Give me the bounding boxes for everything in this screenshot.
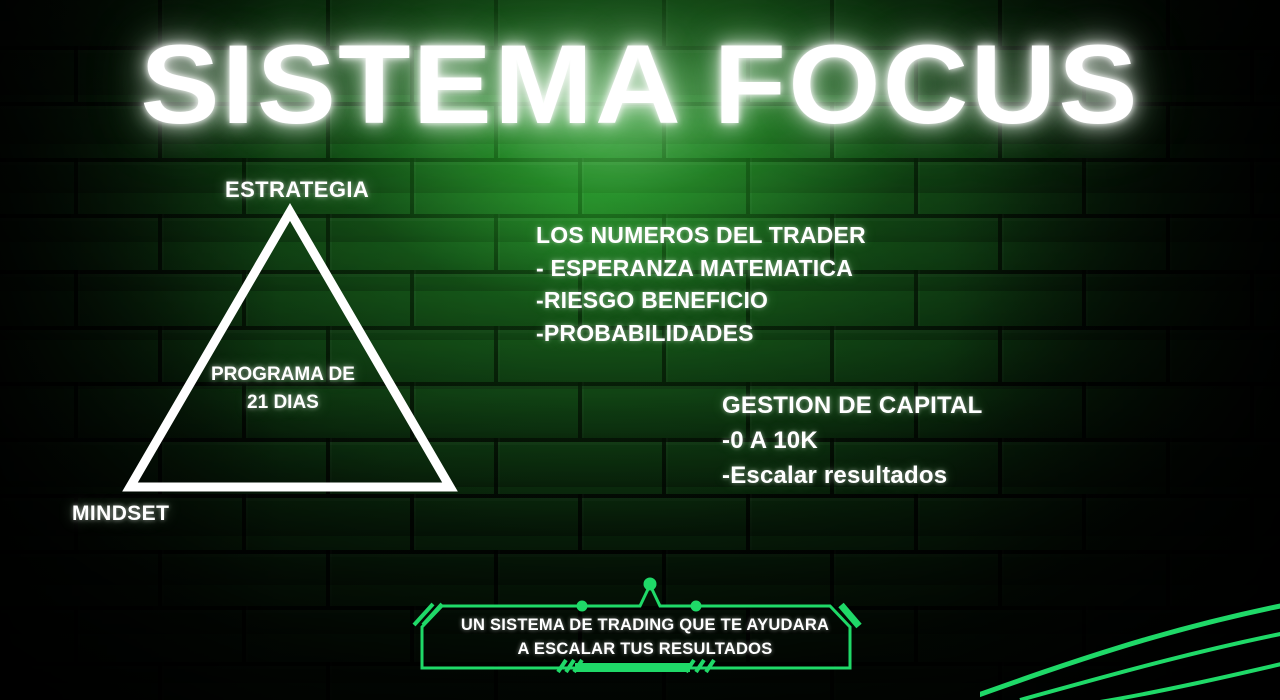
banner-text-line1: UN SISTEMA DE TRADING QUE TE AYUDARA	[410, 613, 880, 637]
numeros-item-2: -PROBABILIDADES	[536, 317, 866, 350]
text-block-gestion-de-capital: GESTION DE CAPITAL -0 A 10K -Escalar res…	[722, 389, 983, 493]
arc-3	[1100, 662, 1280, 700]
arc-1	[980, 604, 1280, 698]
banner-dot-right	[691, 601, 702, 612]
triangle-inner-label-line2: 21 DIAS	[211, 389, 355, 417]
banner-bottom-slashes-right	[686, 660, 714, 672]
page-title: SISTEMA FOCUS	[0, 26, 1280, 144]
slide-canvas: SISTEMA FOCUS ESTRATEGIA MINDSET PROGRAM…	[0, 0, 1280, 700]
text-block-numeros-del-trader: LOS NUMEROS DEL TRADER - ESPERANZA MATEM…	[536, 219, 866, 350]
triangle-inner-label: PROGRAMA DE 21 DIAS	[211, 361, 355, 416]
numeros-item-1: -RIESGO BENEFICIO	[536, 284, 866, 317]
numeros-heading: LOS NUMEROS DEL TRADER	[536, 219, 866, 252]
numeros-item-0: - ESPERANZA MATEMATICA	[536, 252, 866, 285]
decorative-arcs	[980, 570, 1280, 700]
capital-item-0: -0 A 10K	[722, 424, 983, 459]
banner-dot-left	[577, 601, 588, 612]
banner-dot-apex	[644, 578, 657, 591]
triangle-label-estrategia: ESTRATEGIA	[225, 177, 369, 203]
capital-item-1: -Escalar resultados	[722, 459, 983, 494]
triangle-inner-label-line1: PROGRAMA DE	[211, 361, 355, 389]
strategy-triangle	[110, 195, 480, 505]
triangle-label-mindset: MINDSET	[72, 502, 169, 526]
triangle-outline	[130, 212, 450, 487]
banner-text-line2: A ESCALAR TUS RESULTADOS	[410, 637, 880, 661]
capital-heading: GESTION DE CAPITAL	[722, 389, 983, 424]
banner-bottom-bar	[575, 663, 690, 672]
banner-text: UN SISTEMA DE TRADING QUE TE AYUDARA A E…	[410, 613, 880, 662]
